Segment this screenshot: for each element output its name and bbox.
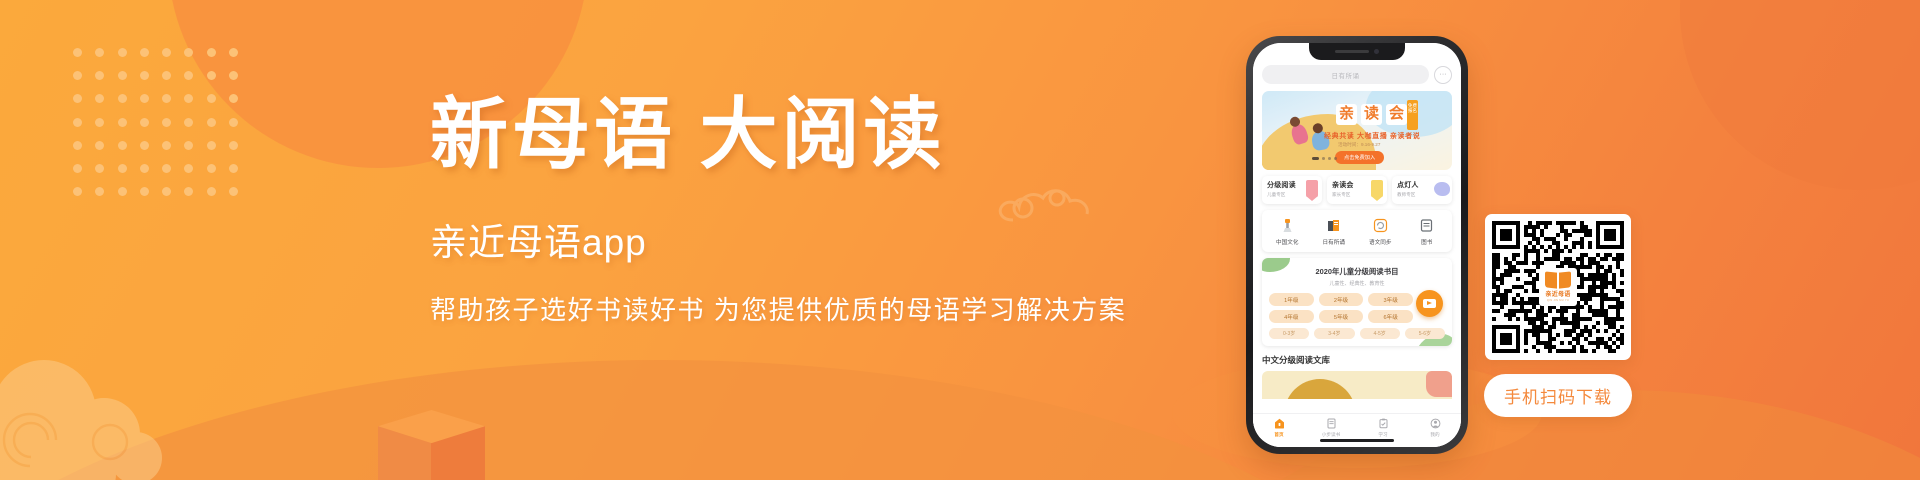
promo-title: 亲 读 会 xyxy=(1336,104,1407,125)
grade-tag[interactable]: 1年级 xyxy=(1269,293,1314,306)
grade-tag[interactable]: 3年级 xyxy=(1368,293,1413,306)
profile-icon xyxy=(1429,417,1442,430)
quick-link-label: 语文同步 xyxy=(1369,238,1391,246)
promo-title-char: 读 xyxy=(1361,104,1382,125)
quick-link-label: 中国文化 xyxy=(1276,238,1298,246)
app-name: 亲近母语app xyxy=(430,224,1250,261)
tab-label: 我的 xyxy=(1430,432,1439,438)
play-video-button[interactable] xyxy=(1416,290,1443,317)
speaker-grille xyxy=(1335,50,1369,53)
bookmark-icon xyxy=(1371,180,1383,197)
promo-stamp: 免费报名 xyxy=(1407,100,1418,130)
dot-grid-pattern xyxy=(73,48,251,210)
promo-subtitle: 经典共读 大咖直播 亲读者说 xyxy=(1324,131,1420,141)
tab-study[interactable]: 学习 xyxy=(1357,417,1409,438)
tab-home[interactable]: 首页 xyxy=(1253,417,1305,438)
hero-copy: 新母语 大阅读 亲近母语app 帮助孩子选好书读好书 为您提供优质的母语学习解决… xyxy=(430,96,1250,323)
quick-link-recite[interactable]: 日有所诵 xyxy=(1311,217,1358,246)
quick-link-books[interactable]: 图书 xyxy=(1404,217,1451,246)
booklist-card: 2020年儿童分级阅读书目 儿童性、经典性、教育性 1年级 2年级 3年级 4年… xyxy=(1262,258,1452,346)
recite-icon xyxy=(1325,217,1342,234)
phone-frame: 日有所诵 ··· 亲 读 xyxy=(1246,36,1468,454)
quick-link-label: 日有所诵 xyxy=(1323,238,1345,246)
play-icon xyxy=(1423,299,1436,308)
tab-label: 小步读书 xyxy=(1322,432,1340,438)
quick-link-culture[interactable]: 中国文化 xyxy=(1264,217,1311,246)
grade-tag[interactable]: 6年级 xyxy=(1368,310,1413,323)
age-tags: 0-3岁 3-4岁 4-5岁 5-6岁 xyxy=(1269,328,1445,339)
grade-tag[interactable]: 2年级 xyxy=(1319,293,1364,306)
carousel-dots[interactable] xyxy=(1312,157,1337,160)
booklist-title: 2020年儿童分级阅读书目 xyxy=(1269,266,1445,277)
library-corner-decoration xyxy=(1426,371,1452,397)
book-icon xyxy=(1418,217,1435,234)
age-tag[interactable]: 3-4岁 xyxy=(1314,328,1354,339)
home-indicator xyxy=(1320,439,1394,443)
promo-title-char: 亲 xyxy=(1336,104,1357,125)
brand-logo: 亲近母语 QIN JIN MU YU xyxy=(1539,268,1577,306)
qr-download-block: 亲近母语 QIN JIN MU YU 手机扫码下载 xyxy=(1484,214,1632,417)
quick-link-sync[interactable]: 语文同步 xyxy=(1357,217,1404,246)
quick-link-label: 图书 xyxy=(1421,238,1432,246)
entry-card-teacher[interactable]: 点灯人 教师专区 xyxy=(1392,176,1452,204)
more-icon[interactable]: ··· xyxy=(1434,66,1452,84)
grade-tag[interactable]: 5年级 xyxy=(1319,310,1364,323)
brand-name: 亲近母语 xyxy=(1545,289,1570,298)
sync-icon xyxy=(1372,217,1389,234)
age-tag[interactable]: 4-5岁 xyxy=(1360,328,1400,339)
page-title: 新母语 大阅读 xyxy=(430,96,1250,174)
tab-label: 首页 xyxy=(1274,432,1283,438)
cube-decoration xyxy=(378,410,484,480)
entry-cards: 分级阅读 儿童专区 亲读会 家长专区 点灯人 教师专区 xyxy=(1262,176,1452,204)
grade-tags: 1年级 2年级 3年级 4年级 5年级 6年级 xyxy=(1269,293,1413,323)
bg-circle-top-right xyxy=(1680,0,1920,190)
brand-name-pinyin: QIN JIN MU YU xyxy=(1547,299,1569,302)
tab-label: 学习 xyxy=(1378,432,1387,438)
age-tag[interactable]: 0-3岁 xyxy=(1269,328,1309,339)
library-arc-decoration xyxy=(1284,379,1356,399)
entry-card-parent-club[interactable]: 亲读会 家长专区 xyxy=(1327,176,1387,204)
age-tag[interactable]: 5-6岁 xyxy=(1405,328,1445,339)
promo-cta-button[interactable]: 点击免费加入 xyxy=(1335,151,1384,164)
tab-profile[interactable]: 我的 xyxy=(1409,417,1461,438)
study-icon xyxy=(1377,417,1390,430)
app-screen: 日有所诵 ··· 亲 读 xyxy=(1253,43,1461,447)
search-input[interactable]: 日有所诵 xyxy=(1262,65,1429,84)
phone-notch xyxy=(1309,43,1405,60)
promo-detail: 活动时间：9.16-9.27 xyxy=(1338,142,1380,148)
entry-card-graded-reading[interactable]: 分级阅读 儿童专区 xyxy=(1262,176,1322,204)
library-section-title: 中文分级阅读文库 xyxy=(1262,354,1452,366)
library-card[interactable] xyxy=(1262,371,1452,399)
search-placeholder: 日有所诵 xyxy=(1332,70,1360,80)
lamp-icon xyxy=(1434,182,1450,196)
search-row: 日有所诵 ··· xyxy=(1262,65,1452,84)
promo-banner: 新母语 大阅读 亲近母语app 帮助孩子选好书读好书 为您提供优质的母语学习解决… xyxy=(0,0,1920,480)
reading-icon xyxy=(1325,417,1338,430)
quick-links: 中国文化 日有所诵 xyxy=(1262,210,1452,252)
booklist-subtitle: 儿童性、经典性、教育性 xyxy=(1269,280,1445,287)
hero-tagline: 帮助孩子选好书读好书 为您提供优质的母语学习解决方案 xyxy=(430,297,1250,323)
cloud-decoration-bottom-left xyxy=(0,354,176,480)
culture-icon xyxy=(1279,217,1296,234)
promo-card[interactable]: 亲 读 会 免费报名 经典共读 大咖直播 亲读者说 活动时间：9.16-9.27… xyxy=(1262,91,1452,170)
grade-tag[interactable]: 4年级 xyxy=(1269,310,1314,323)
tab-reading[interactable]: 小步读书 xyxy=(1305,417,1357,438)
promo-title-char: 会 xyxy=(1386,104,1407,125)
qr-code[interactable]: 亲近母语 QIN JIN MU YU xyxy=(1485,214,1631,360)
download-button[interactable]: 手机扫码下载 xyxy=(1484,374,1632,417)
phone-mockup: 日有所诵 ··· 亲 读 xyxy=(1246,36,1468,454)
open-book-icon xyxy=(1545,272,1571,288)
front-camera-icon xyxy=(1374,49,1379,54)
home-icon xyxy=(1273,417,1286,430)
bookmark-icon xyxy=(1306,180,1318,197)
